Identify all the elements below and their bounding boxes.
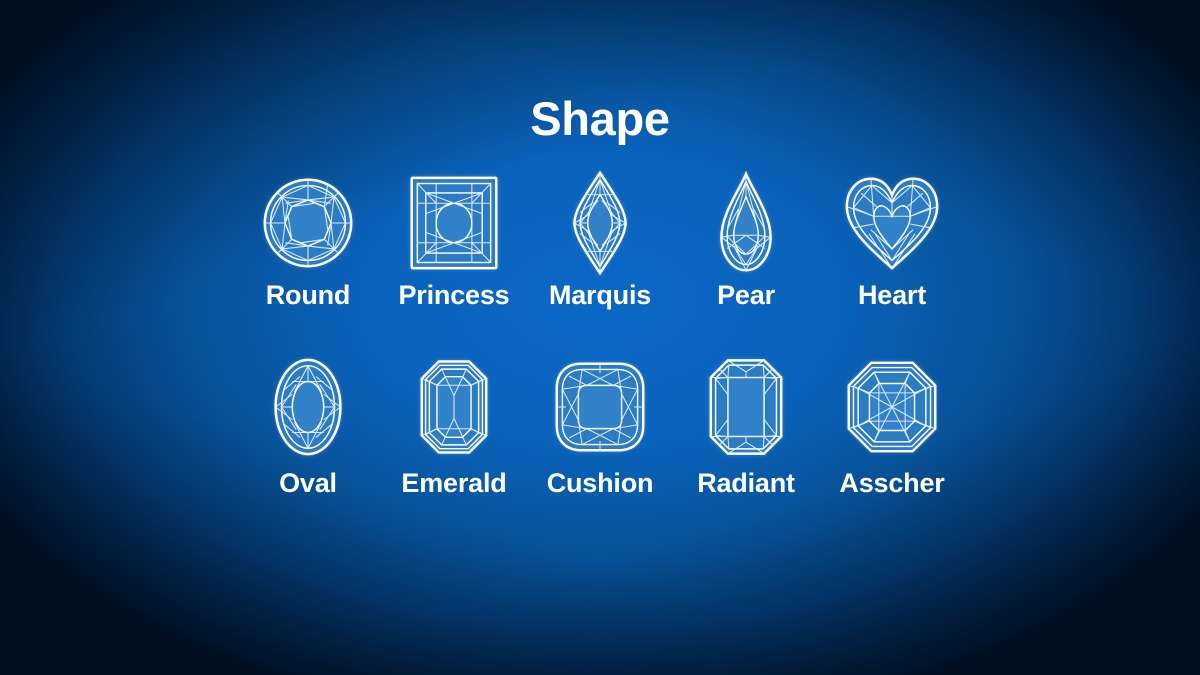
- shape-option-marquis[interactable]: Marquis: [527, 168, 673, 311]
- shape-option-oval[interactable]: Oval: [235, 352, 381, 499]
- shape-chart-slide: Shape: [0, 0, 1200, 675]
- princess-diamond-icon: [407, 168, 501, 278]
- oval-diamond-icon: [270, 352, 346, 462]
- diamond-shape-grid: Round: [0, 0, 1200, 675]
- shape-label: Marquis: [549, 280, 651, 311]
- shape-label: Pear: [717, 280, 775, 311]
- cushion-diamond-icon: [553, 352, 647, 462]
- shape-option-princess[interactable]: Princess: [381, 168, 527, 311]
- diamond-shape-row-1: Round: [235, 168, 965, 311]
- asscher-diamond-icon: [845, 352, 939, 462]
- shape-label: Cushion: [547, 468, 654, 499]
- shape-option-heart[interactable]: Heart: [819, 168, 965, 311]
- shape-label: Round: [266, 280, 350, 311]
- shape-label: Radiant: [697, 468, 795, 499]
- pear-diamond-icon: [710, 168, 782, 278]
- shape-option-pear[interactable]: Pear: [673, 168, 819, 311]
- shape-label: Princess: [399, 280, 510, 311]
- shape-label: Oval: [279, 468, 337, 499]
- shape-label: Emerald: [401, 468, 506, 499]
- shape-option-round[interactable]: Round: [235, 168, 381, 311]
- round-diamond-icon: [260, 168, 356, 278]
- shape-option-radiant[interactable]: Radiant: [673, 352, 819, 499]
- shape-label: Heart: [858, 280, 926, 311]
- shape-option-emerald: Emerald: [381, 352, 527, 499]
- emerald-diamond-icon: [418, 352, 490, 462]
- shape-option-asscher[interactable]: Asscher: [819, 352, 965, 499]
- diamond-shape-row-2: Oval: [235, 352, 965, 499]
- shape-label: Asscher: [839, 468, 944, 499]
- heart-diamond-icon: [842, 168, 942, 278]
- radiant-diamond-icon: [707, 352, 785, 462]
- marquis-diamond-icon: [565, 168, 635, 278]
- shape-option-cushion[interactable]: Cushion: [527, 352, 673, 499]
